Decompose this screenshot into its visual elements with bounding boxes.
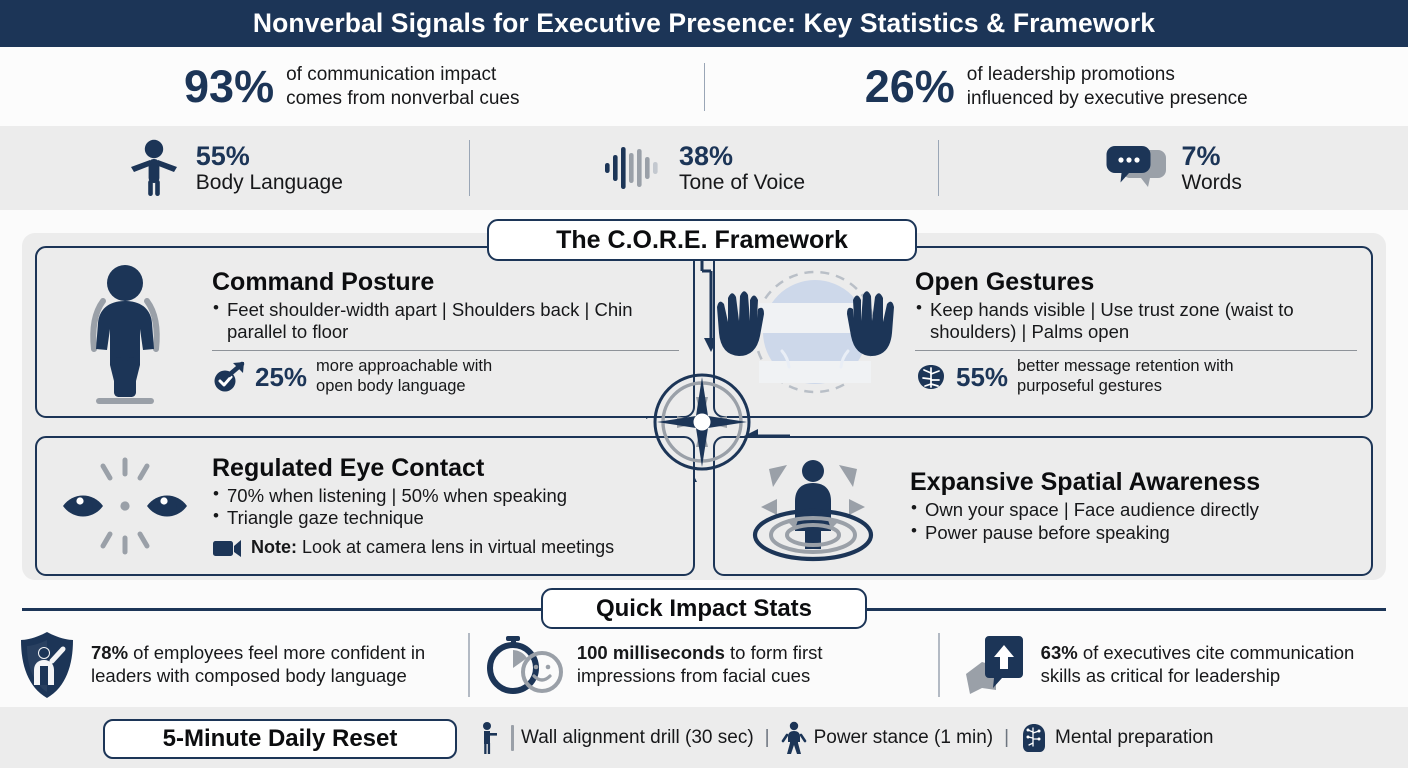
top-stat-text: of communication impact comes from nonve… <box>286 63 519 109</box>
quick-impact-rule-right <box>866 608 1386 611</box>
quick-impact-title: Quick Impact Stats <box>596 595 812 623</box>
top-stat-value: 93% <box>184 64 274 109</box>
channel-value: 55% <box>196 142 343 170</box>
card-bullets: Feet shoulder-width apart | Shoulders ba… <box>212 299 679 343</box>
standing-person-icon <box>37 257 212 407</box>
card-title: Command Posture <box>212 268 679 296</box>
card-bullet: Own your space | Face audience directly <box>910 499 1357 521</box>
card-body: Regulated Eye Contact 70% when listening… <box>212 454 693 559</box>
quick-impact-body: of executives cite communication skills … <box>1041 642 1355 686</box>
core-framework-title: The C.O.R.E. Framework <box>556 226 848 255</box>
card-title: Open Gestures <box>915 268 1357 296</box>
megaphone-up-icon <box>956 632 1028 698</box>
quick-impact-body: of employees feel more confident in lead… <box>91 642 425 686</box>
person-arms-open-icon <box>126 139 182 197</box>
video-camera-icon <box>212 538 242 558</box>
quick-impact-text: 63% of executives cite communication ski… <box>1041 642 1392 688</box>
channel-label: Tone of Voice <box>679 171 805 194</box>
top-stat-93: 93% of communication impact comes from n… <box>0 63 704 109</box>
card-stat-line1: better message retention with <box>1017 357 1233 375</box>
card-body: Open Gestures Keep hands visible | Use t… <box>915 268 1371 397</box>
core-card-open-gestures[interactable]: Open Gestures Keep hands visible | Use t… <box>713 246 1373 418</box>
daily-reset-items: Wall alignment drill (30 sec) | Power st… <box>478 707 1213 768</box>
channel-label: Body Language <box>196 171 343 194</box>
header-bar: Nonverbal Signals for Executive Presence… <box>0 0 1408 47</box>
top-stat-26: 26% of leadership promotions influenced … <box>705 63 1408 109</box>
quick-impact-row: 78% of employees feel more confident in … <box>0 624 1408 706</box>
brain-icon <box>915 362 947 392</box>
compass-icon <box>651 371 753 473</box>
power-stance-icon <box>781 721 807 755</box>
card-bullets: Keep hands visible | Use trust zone (wai… <box>915 299 1357 343</box>
core-framework-pill: The C.O.R.E. Framework <box>487 219 917 261</box>
channel-body-language: 55% Body Language <box>0 139 469 197</box>
daily-reset-title: 5-Minute Daily Reset <box>163 725 398 753</box>
eyes-icon <box>37 452 212 560</box>
core-card-expansive-spatial-awareness[interactable]: Expansive Spatial Awareness Own your spa… <box>713 436 1373 576</box>
quick-impact-item-78: 78% of employees feel more confident in … <box>0 629 468 701</box>
check-circle-arrow-up-icon <box>212 362 246 392</box>
top-stat-value: 26% <box>865 64 955 109</box>
daily-reset-label: Mental preparation <box>1055 727 1213 749</box>
channel-label: Words <box>1182 171 1242 194</box>
daily-reset-item-mental-preparation: Mental preparation <box>1020 722 1213 754</box>
top-stat-line2: comes from nonverbal cues <box>286 87 519 110</box>
card-stat: 55% better message retention with purpos… <box>915 357 1357 396</box>
quick-impact-text: 100 milliseconds to form first impressio… <box>577 642 922 688</box>
quick-impact-text: 78% of employees feel more confident in … <box>91 642 452 688</box>
card-stat-text: better message retention with purposeful… <box>1017 357 1233 396</box>
quick-impact-item-63: 63% of executives cite communication ski… <box>940 632 1408 698</box>
core-card-regulated-eye-contact[interactable]: Regulated Eye Contact 70% when listening… <box>35 436 695 576</box>
quick-impact-bold: 63% <box>1041 642 1078 663</box>
quick-impact-bold: 100 milliseconds <box>577 642 725 663</box>
card-stat-line2: purposeful gestures <box>1017 377 1162 395</box>
core-card-command-posture[interactable]: Command Posture Feet shoulder-width apar… <box>35 246 695 418</box>
channel-text: 38% Tone of Voice <box>679 142 805 193</box>
card-stat: 25% more approachable with open body lan… <box>212 357 679 396</box>
audio-waveform-icon <box>603 143 665 193</box>
shield-person-icon <box>16 629 78 701</box>
card-bullet: Feet shoulder-width apart | Shoulders ba… <box>212 299 679 343</box>
channel-tone-of-voice: 38% Tone of Voice <box>470 142 939 193</box>
page-title: Nonverbal Signals for Executive Presence… <box>253 8 1155 39</box>
card-stat-line2: open body language <box>316 377 466 395</box>
daily-reset-label: Power stance (1 min) <box>814 727 994 749</box>
channel-words: 7% Words <box>939 142 1408 193</box>
card-stat-line1: more approachable with <box>316 357 492 375</box>
daily-reset-separator: | <box>1004 727 1009 749</box>
card-stat-value: 55% <box>956 364 1008 390</box>
quick-impact-bold: 78% <box>91 642 128 663</box>
speech-bubbles-icon <box>1106 144 1168 192</box>
channel-text: 55% Body Language <box>196 142 343 193</box>
card-bullet: Keep hands visible | Use trust zone (wai… <box>915 299 1357 343</box>
card-note-text: Note: Look at camera lens in virtual mee… <box>251 537 614 558</box>
card-stat-value: 25% <box>255 364 307 390</box>
card-bullet: Power pause before speaking <box>910 522 1357 544</box>
daily-reset-separator: | <box>765 727 770 749</box>
communication-channel-band: 55% Body Language <box>0 126 1408 210</box>
top-stats-row: 93% of communication impact comes from n… <box>0 47 1408 126</box>
top-stat-line2: influenced by executive presence <box>967 87 1248 110</box>
quick-impact-rule-left <box>22 608 542 611</box>
card-title: Regulated Eye Contact <box>212 454 679 482</box>
quick-impact-pill: Quick Impact Stats <box>541 588 867 629</box>
stopwatch-smiley-icon <box>486 634 564 696</box>
channel-value: 38% <box>679 142 805 170</box>
card-note-body: Look at camera lens in virtual meetings <box>302 537 614 557</box>
daily-reset-pill: 5-Minute Daily Reset <box>103 719 457 759</box>
card-bullet: Triangle gaze technique <box>212 507 679 529</box>
card-title: Expansive Spatial Awareness <box>910 468 1357 496</box>
card-body: Expansive Spatial Awareness Own your spa… <box>910 468 1371 543</box>
top-stat-line1: of communication impact <box>286 63 519 86</box>
daily-reset-label: Wall alignment drill (30 sec) <box>521 727 754 749</box>
person-wall-icon <box>478 721 504 755</box>
infographic-root: Nonverbal Signals for Executive Presence… <box>0 0 1408 768</box>
card-divider <box>212 350 679 352</box>
channel-value: 7% <box>1182 142 1242 170</box>
wall-line <box>511 725 514 751</box>
card-bullets: Own your space | Face audience directly … <box>910 499 1357 543</box>
card-bullets: 70% when listening | 50% when speaking T… <box>212 485 679 529</box>
daily-reset-item-power-stance: Power stance (1 min) <box>781 721 994 755</box>
card-note: Note: Look at camera lens in virtual mee… <box>212 537 679 558</box>
card-note-label: Note: <box>251 537 297 557</box>
daily-reset-item-wall-alignment: Wall alignment drill (30 sec) <box>478 721 754 755</box>
card-body: Command Posture Feet shoulder-width apar… <box>212 268 693 397</box>
card-bullet: 70% when listening | 50% when speaking <box>212 485 679 507</box>
top-stat-text: of leadership promotions influenced by e… <box>967 63 1248 109</box>
head-brain-icon <box>1020 722 1048 754</box>
card-stat-text: more approachable with open body languag… <box>316 357 492 396</box>
channel-text: 7% Words <box>1182 142 1242 193</box>
top-stat-line1: of leadership promotions <box>967 63 1248 86</box>
card-divider <box>915 350 1357 352</box>
quick-impact-item-100ms: 100 milliseconds to form first impressio… <box>470 634 938 696</box>
